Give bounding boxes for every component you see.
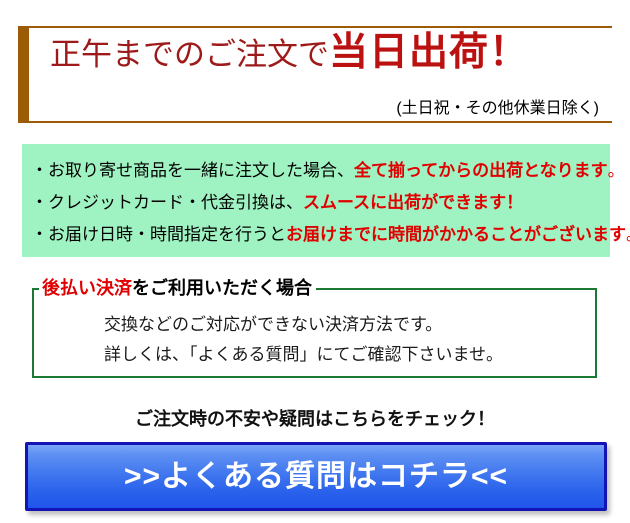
header-bottom-rule: [29, 121, 612, 123]
deferred-payment-box: 後払い決済をご利用いただく場合 交換などのご対応ができない決済方法です。 詳しく…: [32, 288, 597, 378]
shipping-notice-panel: ・お取り寄せ商品を一緒に注文した場合、全て揃ってからの出荷となります。 ・クレジ…: [22, 144, 610, 257]
header-inner: 正午までのご注文で当日出荷！ (土日祝・その他休業日除く): [29, 28, 612, 121]
notice-line: ・お取り寄せ商品を一緒に注文した場合、全て揃ってからの出荷となります。: [22, 155, 610, 187]
notice-line: ・クレジットカード・代金引換は、スムースに出荷ができます！: [22, 187, 610, 219]
notice-text-plain: クレジットカード・代金引換は、: [48, 193, 303, 212]
page-title: 正午までのご注文で当日出荷！: [50, 33, 529, 72]
page-title-normal: 正午までのご注文で: [50, 37, 329, 72]
notice-text-highlight: スムースに出荷ができます！: [303, 193, 523, 212]
header-accent-bar: [18, 26, 29, 123]
deferred-body-line: 交換などのご対応ができない決済方法です。: [34, 310, 595, 340]
notice-text-plain: お取り寄せ商品を一緒に注文した場合、: [48, 161, 354, 180]
deferred-body-line: 詳しくは、「よくある質問」にてご確認下さいませ。: [34, 340, 595, 370]
header-subtitle: (土日祝・その他休業日除く): [396, 94, 599, 118]
faq-button-label: >>よくある質問はコチラ<<: [124, 462, 508, 492]
notice-text-highlight: お届けまでに時間がかかることがございます: [286, 225, 626, 244]
notice-bullet: ・: [31, 225, 48, 244]
notice-bullet: ・: [31, 193, 48, 212]
notice-bullet: ・: [31, 161, 48, 180]
deferred-legend-emphasis: 後払い決済: [42, 278, 132, 298]
deferred-payment-legend: 後払い決済をご利用いただく場合: [39, 277, 316, 299]
header-banner: 正午までのご注文で当日出荷！ (土日祝・その他休業日除く): [18, 26, 612, 123]
faq-button[interactable]: >>よくある質問はコチラ<<: [25, 442, 607, 511]
deferred-payment-body: 交換などのご対応ができない決済方法です。 詳しくは、「よくある質問」にてご確認下…: [34, 310, 595, 370]
cta-heading: ご注文時の不安や疑問はこちらをチェック！: [0, 405, 630, 431]
notice-text-highlight-tail: 。: [626, 225, 630, 244]
notice-text-highlight: 全て揃ってからの出荷となります: [354, 161, 608, 180]
notice-line: ・お届け日時・時間指定を行うとお届けまでに時間がかかることがございます。: [22, 219, 610, 251]
page-title-emphasis: 当日出荷！: [329, 31, 529, 74]
deferred-legend-rest: をご利用いただく場合: [132, 278, 312, 298]
notice-text-highlight-tail: 。: [608, 161, 625, 180]
notice-text-plain: お届け日時・時間指定を行うと: [48, 225, 286, 244]
